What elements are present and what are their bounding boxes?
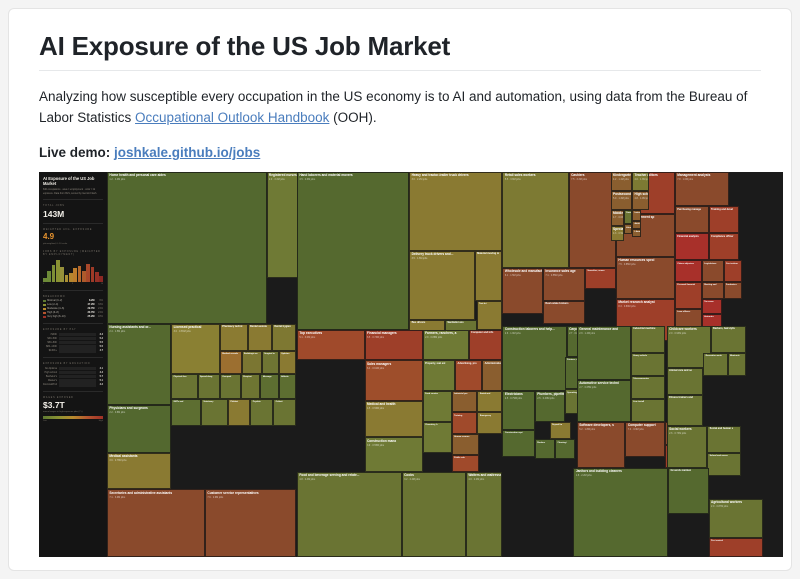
treemap-canvas[interactable]: Home health and personal care aides1.2 ·… [107, 172, 783, 557]
treemap-cell[interactable]: Property, real est [423, 360, 455, 391]
weighted-exposure-value: 4.9 [43, 233, 103, 242]
treemap-cell[interactable]: Surgical te [262, 351, 279, 374]
treemap-cell[interactable]: Line install [631, 399, 665, 422]
treemap-cell-label: Telecommunica [632, 377, 664, 381]
treemap-cell-label: High school teachers [633, 192, 647, 197]
treemap-cell-label: Personal financial [676, 283, 701, 287]
edu-bar-label: Doctoral/Prof [43, 383, 57, 386]
breakdown-row[interactable]: Moderate (4–6)29.7M21% [43, 307, 103, 310]
pay-bar-row: $80–130K5.5 [43, 345, 103, 348]
edu-bar-row: Doctoral/Prof4.2 [43, 383, 103, 386]
treemap-cell-value: 5.5 · 3.6M jobs [503, 178, 567, 181]
treemap-cell[interactable]: High school teachers4.8 · 1.0M jobs [632, 191, 648, 210]
treemap-cell-label: Emergency [478, 413, 501, 417]
treemap-cell[interactable]: Libraria [632, 229, 641, 237]
histogram-bar [47, 271, 51, 282]
edu-bar-label: No diploma [43, 367, 57, 370]
treemap-cell[interactable]: Radiologic an [242, 351, 262, 374]
breakdown-name: Low (2–4) [47, 303, 86, 306]
treemap-cell-label: Manicuris [729, 354, 745, 358]
wages-note: annual wages in high-exposure jobs (7+) [43, 411, 103, 414]
breakdown-jobs: 30.7M [88, 311, 95, 314]
treemap-cell-value: 5.2 · 1.8M jobs [578, 428, 625, 431]
treemap-cell-label: Orthoti [274, 400, 295, 404]
treemap-cell[interactable]: Physical ther [171, 374, 197, 399]
treemap-cell-label: Meeting and [703, 283, 723, 287]
treemap-cell-label: Loan officers [676, 310, 701, 314]
treemap-cell-value: 2.5 · 0.79M jobs [503, 397, 533, 400]
treemap-cell[interactable]: Hand laborers and material movers3.5 · 2… [297, 172, 409, 330]
treemap-cell[interactable]: Grounds mainten [668, 468, 709, 514]
histogram-bar [69, 273, 73, 282]
treemap-cell[interactable]: Janitors and building cleaners1.8 · 2.2M… [573, 468, 668, 557]
treemap-cell-value: 7.5 · 0.85M jobs [617, 262, 674, 265]
treemap-cell[interactable]: Retail sales workers5.5 · 3.6M jobs [502, 172, 568, 268]
treemap-cell-label: Public rela [453, 456, 478, 460]
treemap-cell[interactable]: Agricultural workers2.0 · 0.87M jobs [709, 499, 763, 538]
treemap-cell-value: 7.5 · 3.3M jobs [570, 178, 615, 181]
treemap-cell-label: Radiologic an [243, 352, 261, 356]
breakdown-name: Moderate (4–6) [47, 307, 86, 310]
treemap-cell[interactable]: Occupati [220, 374, 241, 399]
treemap-cell[interactable]: Logisticians [702, 260, 724, 281]
treemap-cell-label: Bus drivers [410, 321, 444, 325]
ooh-link[interactable]: Occupational Outlook Handbook [135, 110, 329, 125]
treemap-cell-value: 5.1 · 3.0M jobs [298, 336, 364, 339]
histogram-bar [43, 278, 47, 282]
treemap-cell[interactable]: Cooks3.2 · 2.4M jobs [402, 472, 466, 557]
treemap-cell[interactable]: Construction laborers and help...2.6 · 1… [502, 326, 566, 391]
treemap-cell[interactable]: Farmers, ranchers, a2.9 · 0.88M jobs [423, 330, 469, 361]
treemap-cell-label: Grounds mainten [669, 469, 708, 473]
treemap-cell[interactable]: Massage [260, 374, 278, 399]
treemap-cell-label: Construction equi [503, 431, 533, 435]
pay-bar-value: 3.4 [97, 333, 103, 336]
treemap-cell-label: Barbers, hairstylis [712, 327, 745, 331]
breakdown-jobs: 29.7M [88, 307, 95, 310]
treemap-cell[interactable]: Administrative s [482, 360, 502, 391]
treemap-cell-label: Roofers [536, 440, 554, 444]
treemap-cell-label: Waiters and waitresses [467, 473, 502, 478]
wages-value: $3.7T [43, 401, 103, 410]
treemap-cell-value: 2.2 · 0.8M jobs [108, 411, 170, 414]
treemap-cell[interactable]: Construction equi [502, 430, 534, 457]
treemap-cell[interactable]: Construction mana3.9 · 0.55M jobs [365, 437, 423, 472]
treemap-cell[interactable]: Nursing assistants and or...2.4 · 1.5M j… [107, 324, 171, 405]
treemap-cell[interactable]: Wholesale and manufacturing6.1 · 1.5M jo… [502, 268, 543, 314]
treemap-cell[interactable]: Manicuris [728, 353, 746, 376]
treemap-cell-label: Real estate brokers [544, 302, 584, 306]
treemap-cell[interactable]: General maintenance and2.9 · 1.4M jobs [577, 326, 631, 380]
breakdown-pct: 18% [96, 315, 103, 318]
treemap-cell-value: 3.5 · 2.6M jobs [298, 178, 408, 181]
breakdown-row[interactable]: High (6–8)30.7M21% [43, 311, 103, 314]
treemap-cell-value: 2.5 · 0.49M jobs [536, 397, 564, 400]
treemap-cell-value: 2.0 · 0.93M jobs [668, 332, 710, 335]
treemap-cell-label: Tax exam [703, 300, 721, 304]
treemap-cell-label: Administrative s [483, 361, 501, 365]
exposure-by-education-chart: No diploma4.1High school4.4Bachelor's5.7… [43, 367, 103, 387]
breakdown-label: BREAKDOWN [43, 296, 103, 299]
treemap-cell-value: 7.1 · 0.55M jobs [544, 274, 584, 277]
panel-divider-3 [43, 290, 103, 291]
treemap-cell[interactable]: Optician [279, 351, 297, 374]
treemap-cell-label: Optician [280, 352, 296, 356]
treemap-cell[interactable]: Barbers, hairstylis2.2 · 0.62M jobs [711, 326, 746, 353]
treemap-cell[interactable]: Instructional coord [632, 210, 641, 221]
treemap-cell[interactable]: Physicians and surgeons2.2 · 0.8M jobs [107, 405, 171, 453]
treemap-cell[interactable]: Securities, comm [585, 268, 616, 289]
treemap-cell[interactable]: Recreation work [703, 353, 727, 376]
treemap-cell[interactable]: Electricians2.5 · 0.79M jobs [502, 391, 534, 430]
histogram-bar [60, 267, 64, 282]
treemap-cell-value: 3.0 · 2.2M jobs [410, 178, 501, 181]
treemap-cell[interactable]: Human resources speci7.5 · 0.85M jobs [616, 257, 675, 299]
histogram-bar [73, 268, 77, 281]
treemap-cell[interactable]: Emergency [477, 412, 502, 433]
treemap-cell-label: Physical ther [172, 375, 196, 379]
pay-bar-row: $130K+4.7 [43, 349, 103, 352]
pay-bar-value: 4.7 [97, 349, 103, 352]
treemap-cell[interactable]: Animal care and se [667, 368, 704, 395]
treemap-cell[interactable]: Financial managers6.5 · 0.73M jobs [365, 330, 423, 361]
breakdown-swatch [43, 312, 46, 315]
treemap-cell[interactable]: Pest control [709, 538, 763, 557]
treemap-cell-value: 2.9 · 1.4M jobs [578, 332, 630, 335]
treemap-cell[interactable]: Purchasing manage7.2 · 0.56M jobs [675, 206, 709, 233]
treemap-cell[interactable]: Career/technical [624, 210, 633, 225]
treemap-cell[interactable]: Claims adjusters [675, 260, 702, 281]
treemap-cell-label: Medical records [221, 352, 241, 356]
pay-bar-value: 5.5 [97, 345, 103, 348]
treemap-cell-label: Speech-lang [199, 375, 219, 379]
histogram-bar [52, 265, 56, 282]
treemap-cell-label: Librarians and lib [625, 225, 632, 229]
treemap-cell-label: Actuaries [703, 315, 721, 319]
treemap-cell-label: Industrial machine [632, 327, 664, 331]
edu-bar-track [59, 367, 96, 370]
treemap-cell-label: Compliance officer [710, 234, 738, 238]
treemap-cell[interactable]: Compliance officer [709, 233, 739, 260]
treemap-cell[interactable]: Psychia [250, 399, 273, 426]
gradient-axis: Low High [43, 420, 103, 423]
treemap-cell-label: Surgical te [263, 352, 278, 356]
histogram-tick: 5 [72, 283, 73, 286]
histogram-bar [91, 267, 95, 282]
treemap-cell-label: Middle school teach [612, 211, 623, 216]
treemap-cell-value: 5.0 · 1.3M jobs [612, 197, 632, 200]
treemap-cell[interactable]: Roofers [535, 439, 555, 458]
treemap-cell-label: Social and human s [708, 427, 740, 431]
breakdown-pct: 33% [96, 303, 103, 306]
gradient-low-label: Low [43, 420, 47, 423]
treemap-cell-value: 4.8 · 1.0M jobs [633, 197, 647, 200]
breakdown-swatch [43, 316, 46, 319]
treemap-cell-label: Teacher assistants [633, 173, 647, 178]
treemap-cell[interactable]: Speech-lang [198, 374, 220, 399]
treemap-cell-label: Computer and info [470, 331, 502, 335]
treemap-cell[interactable]: Chemistry, b [423, 422, 452, 453]
treemap-cell[interactable]: Material moving m [475, 251, 503, 301]
treemap-cell[interactable]: Dental assista [248, 324, 272, 351]
pay-bar-track [59, 333, 96, 336]
treemap-cell-label: Material moving m [476, 252, 502, 256]
treemap-cell-value: 4.0 · 1.3M jobs [633, 178, 647, 181]
treemap-cell-value: 4.2 · 1.4M jobs [612, 178, 632, 181]
treemap-cell[interactable]: Computer support7.4 · 0.9M jobs [625, 422, 664, 457]
treemap-cell[interactable]: Advertising, pro [455, 360, 482, 391]
pay-bar-track [59, 341, 96, 344]
pay-bar-label: $50–80K [43, 341, 57, 344]
gradient-high-label: High [99, 420, 103, 423]
exposure-histogram [43, 260, 103, 282]
treemap-cell-label: Financial analysts [676, 234, 708, 238]
treemap-cell-label: Dental hygien [273, 325, 295, 329]
treemap-cell[interactable]: Fitness trainers and2.2 · 0.37M jobs [667, 395, 704, 426]
treemap-cell[interactable]: Teacher assistants4.0 · 1.3M jobs [632, 172, 648, 191]
edu-bar-track [59, 379, 96, 382]
treemap-cell-label: Claims adjusters [676, 261, 701, 265]
treemap-figure: AI Exposure of the US Job Market 840 occ… [39, 172, 783, 557]
treemap-cell[interactable]: Training [452, 412, 478, 433]
treemap-cell-label: Kindergarten and elementary [612, 173, 632, 178]
treemap-cell[interactable]: Librarians and lib [624, 224, 633, 234]
treemap-cell[interactable]: Medical records [220, 351, 242, 374]
treemap-cell[interactable]: Drywall ta [550, 422, 572, 439]
treemap-cell-value: 7.4 · 0.9M jobs [626, 428, 663, 431]
treemap-cell-label: Special education te [612, 227, 623, 232]
breakdown-jobs: 25.2M [88, 315, 95, 318]
breakdown-row[interactable]: Low (2–4)47.2M33% [43, 303, 103, 306]
page-title: AI Exposure of the US Job Market [39, 31, 761, 62]
treemap-cell-label: Human resourc [453, 435, 478, 439]
edu-bar-row: No diploma4.1 [43, 367, 103, 370]
demo-line: Live demo: joshkale.github.io/jobs [39, 145, 761, 160]
treemap-cell-label: Drywall ta [551, 423, 571, 427]
treemap-cell[interactable]: Management analysts7.8 · 1.0M jobs [675, 172, 729, 207]
treemap-cell[interactable]: Fundraiser [724, 282, 743, 299]
treemap-cell[interactable]: Customer service representatives7.6 · 2.… [205, 489, 296, 556]
panel-divider-4 [43, 323, 103, 324]
treemap-cell[interactable]: Licensed practical3.0 · 0.65M jobs [171, 324, 220, 374]
histogram-bar [82, 271, 86, 282]
treemap-cell-label: Securities, comm [586, 269, 615, 273]
treemap-cell-value: 3.9 · 0.55M jobs [366, 443, 422, 446]
treemap-cell[interactable]: Cashiers7.5 · 3.3M jobs [569, 172, 616, 268]
treemap-cell-label: Psychia [251, 400, 272, 404]
edu-bar-value: 5.1 [97, 379, 103, 382]
treemap-cell-label: Fundraiser [725, 283, 742, 287]
treemap-cell-label: Food service [424, 392, 451, 396]
treemap-cell-label: Property, real est [424, 361, 454, 365]
treemap-cell-label: Occupati [221, 375, 240, 379]
edu-bar-label: High school [43, 371, 57, 374]
histogram-bar [99, 276, 103, 282]
pay-bar-value: 5.5 [97, 341, 103, 344]
education-label: EXPOSURE BY EDUCATION [43, 363, 103, 366]
pay-bar-label: $130K+ [43, 349, 57, 352]
pay-bar-track [59, 345, 96, 348]
edu-bar-track [59, 371, 96, 374]
treemap-cell-label: Phlebot [229, 400, 249, 404]
treemap-cell-label: Dental assista [249, 325, 271, 329]
pay-label: EXPOSURE BY PAY [43, 329, 103, 332]
treemap-cell[interactable]: Plumbers, pipefitte2.5 · 0.49M jobs [535, 391, 565, 422]
treemap-cell[interactable]: Computer and info [469, 330, 503, 361]
treemap-cell-value: 6.5 · 0.73M jobs [366, 336, 422, 339]
pay-bar-row: $30–50K5.2 [43, 337, 103, 340]
breakdown-row[interactable]: Minimal (0–2)8.2M6% [43, 299, 103, 302]
treemap-cell[interactable]: Taxi dri [477, 301, 503, 330]
edu-bar-row: High school4.4 [43, 371, 103, 374]
treemap-cell[interactable]: Personal financial [675, 282, 702, 309]
edu-bar-label: Bachelor's [43, 375, 57, 378]
treemap-cell-value: 2.4 · 1.5M jobs [108, 330, 170, 333]
treemap-cell[interactable]: Special education te4.3 · 0.5M jobs [611, 226, 624, 241]
treemap-cell-value: 4.8 · 2.4M jobs [298, 478, 401, 481]
treemap-cell-label: Animal care and se [668, 369, 703, 373]
treemap-cell-label: Plumbers, pipefitte [536, 392, 564, 397]
breakdown-name: Very high (8–10) [47, 315, 86, 318]
treemap-cell-value: 6.4 · 0.61M jobs [366, 366, 422, 369]
treemap-cell[interactable]: Postsecondary teachers5.0 · 1.3M jobs [611, 191, 633, 210]
treemap-cell[interactable]: Sales managers6.4 · 0.61M jobs [365, 360, 423, 400]
treemap-cell-value: 4.3 · 0.5M jobs [612, 232, 623, 235]
treemap-cell[interactable]: Pharmacy techni [220, 324, 248, 351]
intro-text-after: (OOH). [329, 110, 376, 125]
treemap-cell[interactable]: Insurance sales age7.1 · 0.55M jobs [543, 268, 585, 301]
edu-bar-value: 5.7 [97, 375, 103, 378]
treemap-cell[interactable]: Public rela [452, 455, 479, 472]
treemap-cell[interactable]: School and career [707, 453, 741, 476]
treemap-cell[interactable]: Social workers2.6 · 0.73M jobs [667, 426, 708, 468]
treemap-cell[interactable]: Phlebot [228, 399, 250, 426]
treemap-cell[interactable]: Social and human s [707, 426, 741, 453]
treemap-sidebar: AI Exposure of the US Job Market 840 occ… [39, 172, 107, 557]
treemap-cell[interactable]: Medical and health4.5 · 0.56M jobs [365, 401, 423, 438]
pay-bar-label: $30–50K [43, 337, 57, 340]
treemap-cell[interactable]: Cost estima [724, 260, 743, 281]
treemap-cell-label: Sanitation wo [446, 321, 476, 325]
weighted-exposure-note: job-weighted, 0–10 scale [43, 243, 103, 246]
panel-divider-2 [43, 223, 103, 224]
edu-bar-row: Master's5.1 [43, 379, 103, 382]
edu-bar-track [59, 383, 96, 386]
treemap-cell[interactable]: Human resourc [452, 434, 479, 455]
breakdown-swatch [43, 308, 46, 311]
histogram-tick: 0 [43, 283, 44, 286]
treemap-cell[interactable]: Tax exam [702, 299, 722, 314]
treemap-cell[interactable]: Veterinary [201, 399, 228, 426]
treemap-cell-value: 7.8 · 1.0M jobs [676, 178, 728, 181]
treemap-cell-label: Adult ba [633, 222, 640, 226]
treemap-cell-value: 7.1 · 3.0M jobs [108, 495, 204, 498]
treemap-cell[interactable]: Meeting and [702, 282, 724, 299]
treemap-cell-label: Logisticians [703, 261, 723, 265]
treemap-cell-value: 4.0 · 2.2M jobs [467, 478, 502, 481]
treemap-cell[interactable]: Industrial pro [452, 391, 478, 412]
treemap-cell[interactable]: Adult ba [632, 221, 641, 229]
breakdown-name: High (6–8) [47, 311, 86, 314]
pay-bar-row: <$30K3.4 [43, 333, 103, 336]
treemap-cell[interactable]: Industrial machine [631, 326, 665, 353]
treemap-cell[interactable]: Secretaries and administrative assistant… [107, 489, 205, 556]
treemap-cell[interactable]: Top executives5.1 · 3.0M jobs [297, 330, 365, 361]
treemap-cell-value: 2.6 · 1.9M jobs [503, 332, 565, 335]
treemap-cell[interactable]: Software developers, s5.2 · 1.8M jobs [577, 422, 626, 468]
treemap-cell-label: Pest control [710, 539, 762, 543]
histogram-bar [78, 266, 82, 282]
breakdown-jobs: 47.2M [88, 303, 95, 306]
treemap-cell[interactable]: Respirat [241, 374, 261, 399]
treemap-cell-label: Social and [478, 392, 501, 396]
treemap-cell[interactable]: Automotive service techni2.7 · 0.65M job… [577, 380, 631, 422]
title-divider [39, 70, 761, 71]
treemap-cell[interactable]: Athletic [279, 374, 297, 399]
breakdown-row[interactable]: Very high (8–10)25.2M18% [43, 315, 103, 318]
treemap-cell[interactable]: Telecommunica [631, 376, 665, 399]
treemap-cell-label: Massage [261, 375, 277, 379]
panel-subtitle: 840 occupations · area = employment · co… [43, 188, 103, 195]
treemap-cell[interactable]: Delivery truck drivers and...3.5 · 1.6M … [409, 251, 475, 320]
treemap-cell-label: Flooring i [556, 440, 574, 444]
panel-divider-6 [43, 391, 103, 392]
histogram-axis: 0510 [43, 283, 103, 286]
demo-link[interactable]: joshkale.github.io/jobs [114, 145, 260, 160]
treemap-cell[interactable]: Waiters and waitresses4.0 · 2.2M jobs [466, 472, 503, 557]
treemap-cell-value: 4.7 · 0.63M jobs [612, 216, 623, 219]
treemap-cell-label: Career/technical [625, 211, 632, 215]
treemap-cell[interactable]: Food and beverage serving and relate...4… [297, 472, 402, 557]
treemap-cell-label: Taxi dri [478, 302, 502, 306]
treemap-cell[interactable]: Dental hygien [272, 324, 296, 351]
pay-bar-label: $80–130K [43, 345, 57, 348]
treemap-cell[interactable]: Social and [477, 391, 502, 412]
pay-bar-row: $50–80K5.5 [43, 341, 103, 344]
treemap-cell-value: 8.3 · 0.83M jobs [617, 305, 674, 308]
treemap-cell[interactable]: Training and devel [709, 206, 739, 233]
histogram-bar [86, 264, 90, 282]
breakdown-jobs: 8.2M [89, 299, 95, 302]
treemap-cell[interactable]: Heavy vehicle [631, 353, 665, 376]
breakdown-swatch [43, 304, 46, 307]
exposure-by-pay-chart: <$30K3.4$30–50K5.2$50–80K5.5$80–130K5.5$… [43, 333, 103, 353]
treemap-cell[interactable]: Middle school teach4.7 · 0.63M jobs [611, 210, 624, 226]
treemap-cell-label: Heavy vehicle [632, 354, 664, 358]
treemap-cell[interactable]: Kindergarten and elementary4.2 · 1.4M jo… [611, 172, 633, 191]
treemap-cell-label: Fitness trainers and [668, 396, 703, 400]
treemap-cell-label: Chemistry, b [424, 423, 451, 427]
treemap-cell[interactable]: Heavy and tractor-trailer truck drivers3… [409, 172, 502, 251]
treemap-cell-value: 1.2 · 4.0M jobs [108, 178, 266, 181]
treemap-cell[interactable]: EMTs and [171, 399, 201, 426]
treemap-cell[interactable]: Medical assistants3.6 · 0.78M jobs [107, 453, 171, 490]
treemap-cell[interactable]: Home health and personal care aides1.2 ·… [107, 172, 267, 324]
breakdown-pct: 6% [96, 299, 103, 302]
treemap-cell[interactable]: Real estate brokers6.1 · 0.53M jobs [543, 301, 585, 324]
treemap-cell[interactable]: Orthoti [273, 399, 296, 426]
treemap-cell-value: 2.7 · 0.65M jobs [578, 386, 630, 389]
treemap-cell[interactable]: Food service [423, 391, 452, 422]
treemap-cell-label: School and career [708, 454, 740, 458]
treemap-cell[interactable]: Financial analysts8.4 · 0.38M jobs [675, 233, 709, 260]
treemap-cell-label: Respirat [242, 375, 260, 379]
edu-bar-value: 4.4 [97, 371, 103, 374]
treemap-cell[interactable]: Flooring i [555, 439, 575, 458]
panel-divider-1 [43, 199, 103, 200]
treemap-cell-label: Training [453, 413, 477, 417]
breakdown-pct: 21% [96, 307, 103, 310]
